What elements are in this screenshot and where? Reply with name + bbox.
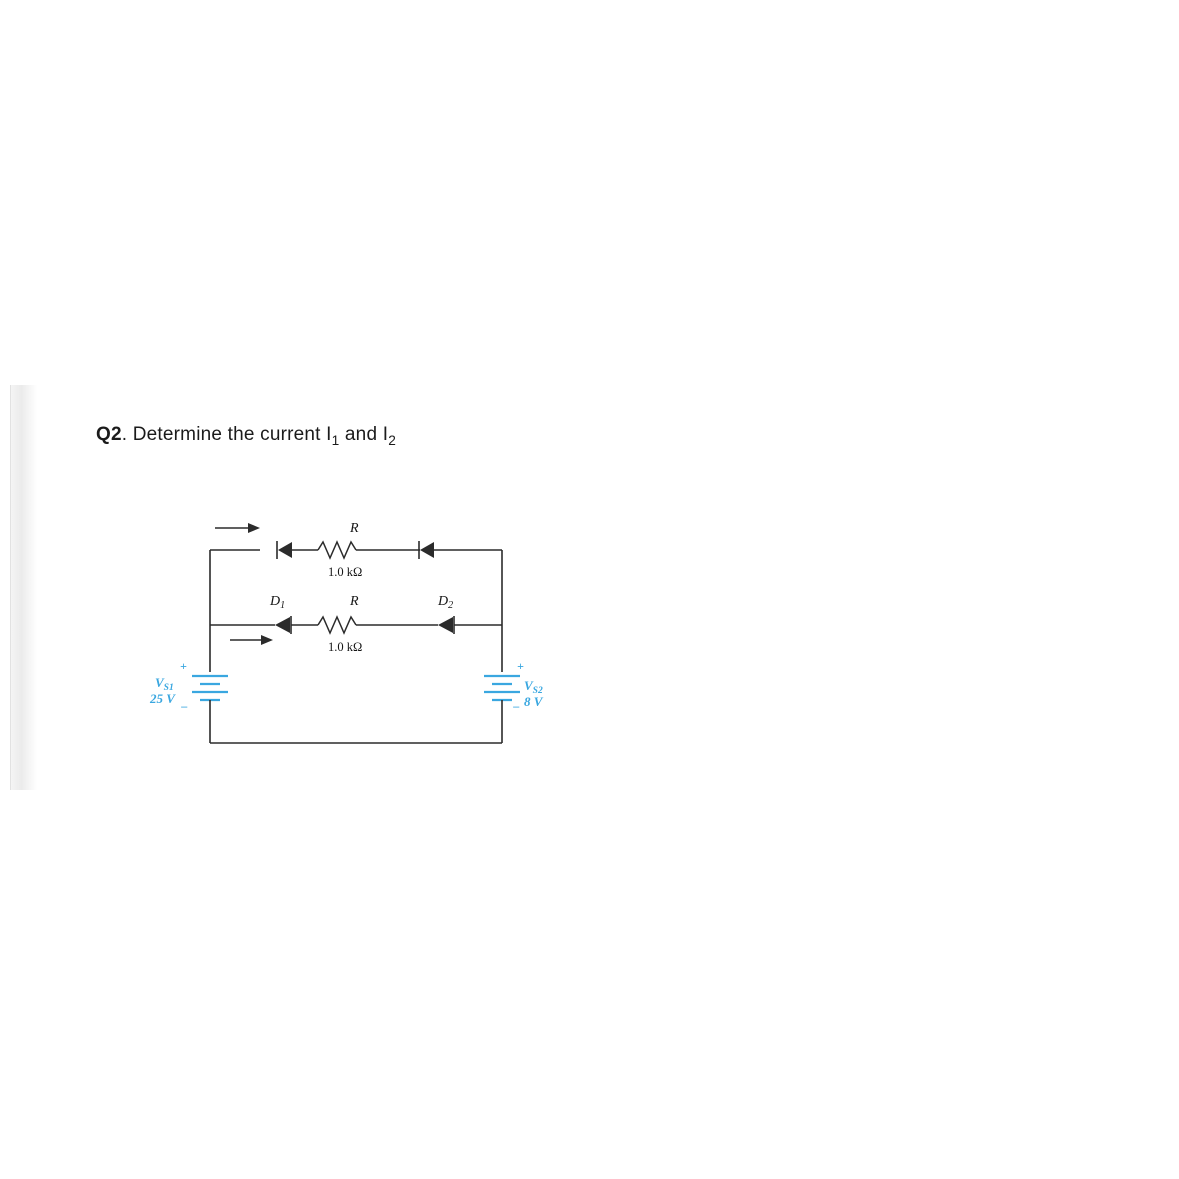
vs1-minus-sign: _ (181, 695, 188, 709)
current-arrow-middle (230, 635, 273, 645)
diode-top-right-symbol (419, 541, 434, 559)
current-2-subscript: 2 (388, 433, 396, 448)
diode-d2-label: D2 (437, 594, 453, 611)
diode-d1-label: D1 (269, 594, 285, 611)
vs1-value: 25 V (149, 691, 176, 706)
resistor-bottom-label: R (349, 594, 359, 609)
vs2-minus-sign: _ (513, 695, 520, 709)
resistor-top-symbol (318, 542, 356, 558)
page-curl-shadow (10, 385, 37, 790)
question-text-mid: and I (339, 424, 388, 445)
current-arrow-top (215, 523, 260, 533)
resistor-top-value: 1.0 kΩ (328, 565, 362, 579)
page-canvas: Q2. Determine the current I1 and I2 (0, 0, 1179, 1179)
resistor-top-label: R (349, 521, 359, 536)
question-heading: Q2. Determine the current I1 and I2 (96, 424, 396, 448)
question-text: . Determine the current I (122, 424, 332, 445)
resistor-bottom-symbol (318, 617, 356, 633)
circuit-diagram: R 1.0 kΩ D1 R D2 1 (120, 500, 640, 800)
battery-vs1-symbol (192, 676, 228, 700)
vs2-value: 8 V (524, 694, 544, 709)
question-number: Q2 (96, 424, 122, 445)
vs2-plus-sign: + (517, 659, 524, 673)
diode-d1-symbol (275, 616, 291, 634)
diode-d2-symbol (438, 616, 454, 634)
diode-top-symbol (277, 541, 292, 559)
resistor-bottom-value: 1.0 kΩ (328, 640, 362, 654)
vs1-plus-sign: + (180, 659, 187, 673)
